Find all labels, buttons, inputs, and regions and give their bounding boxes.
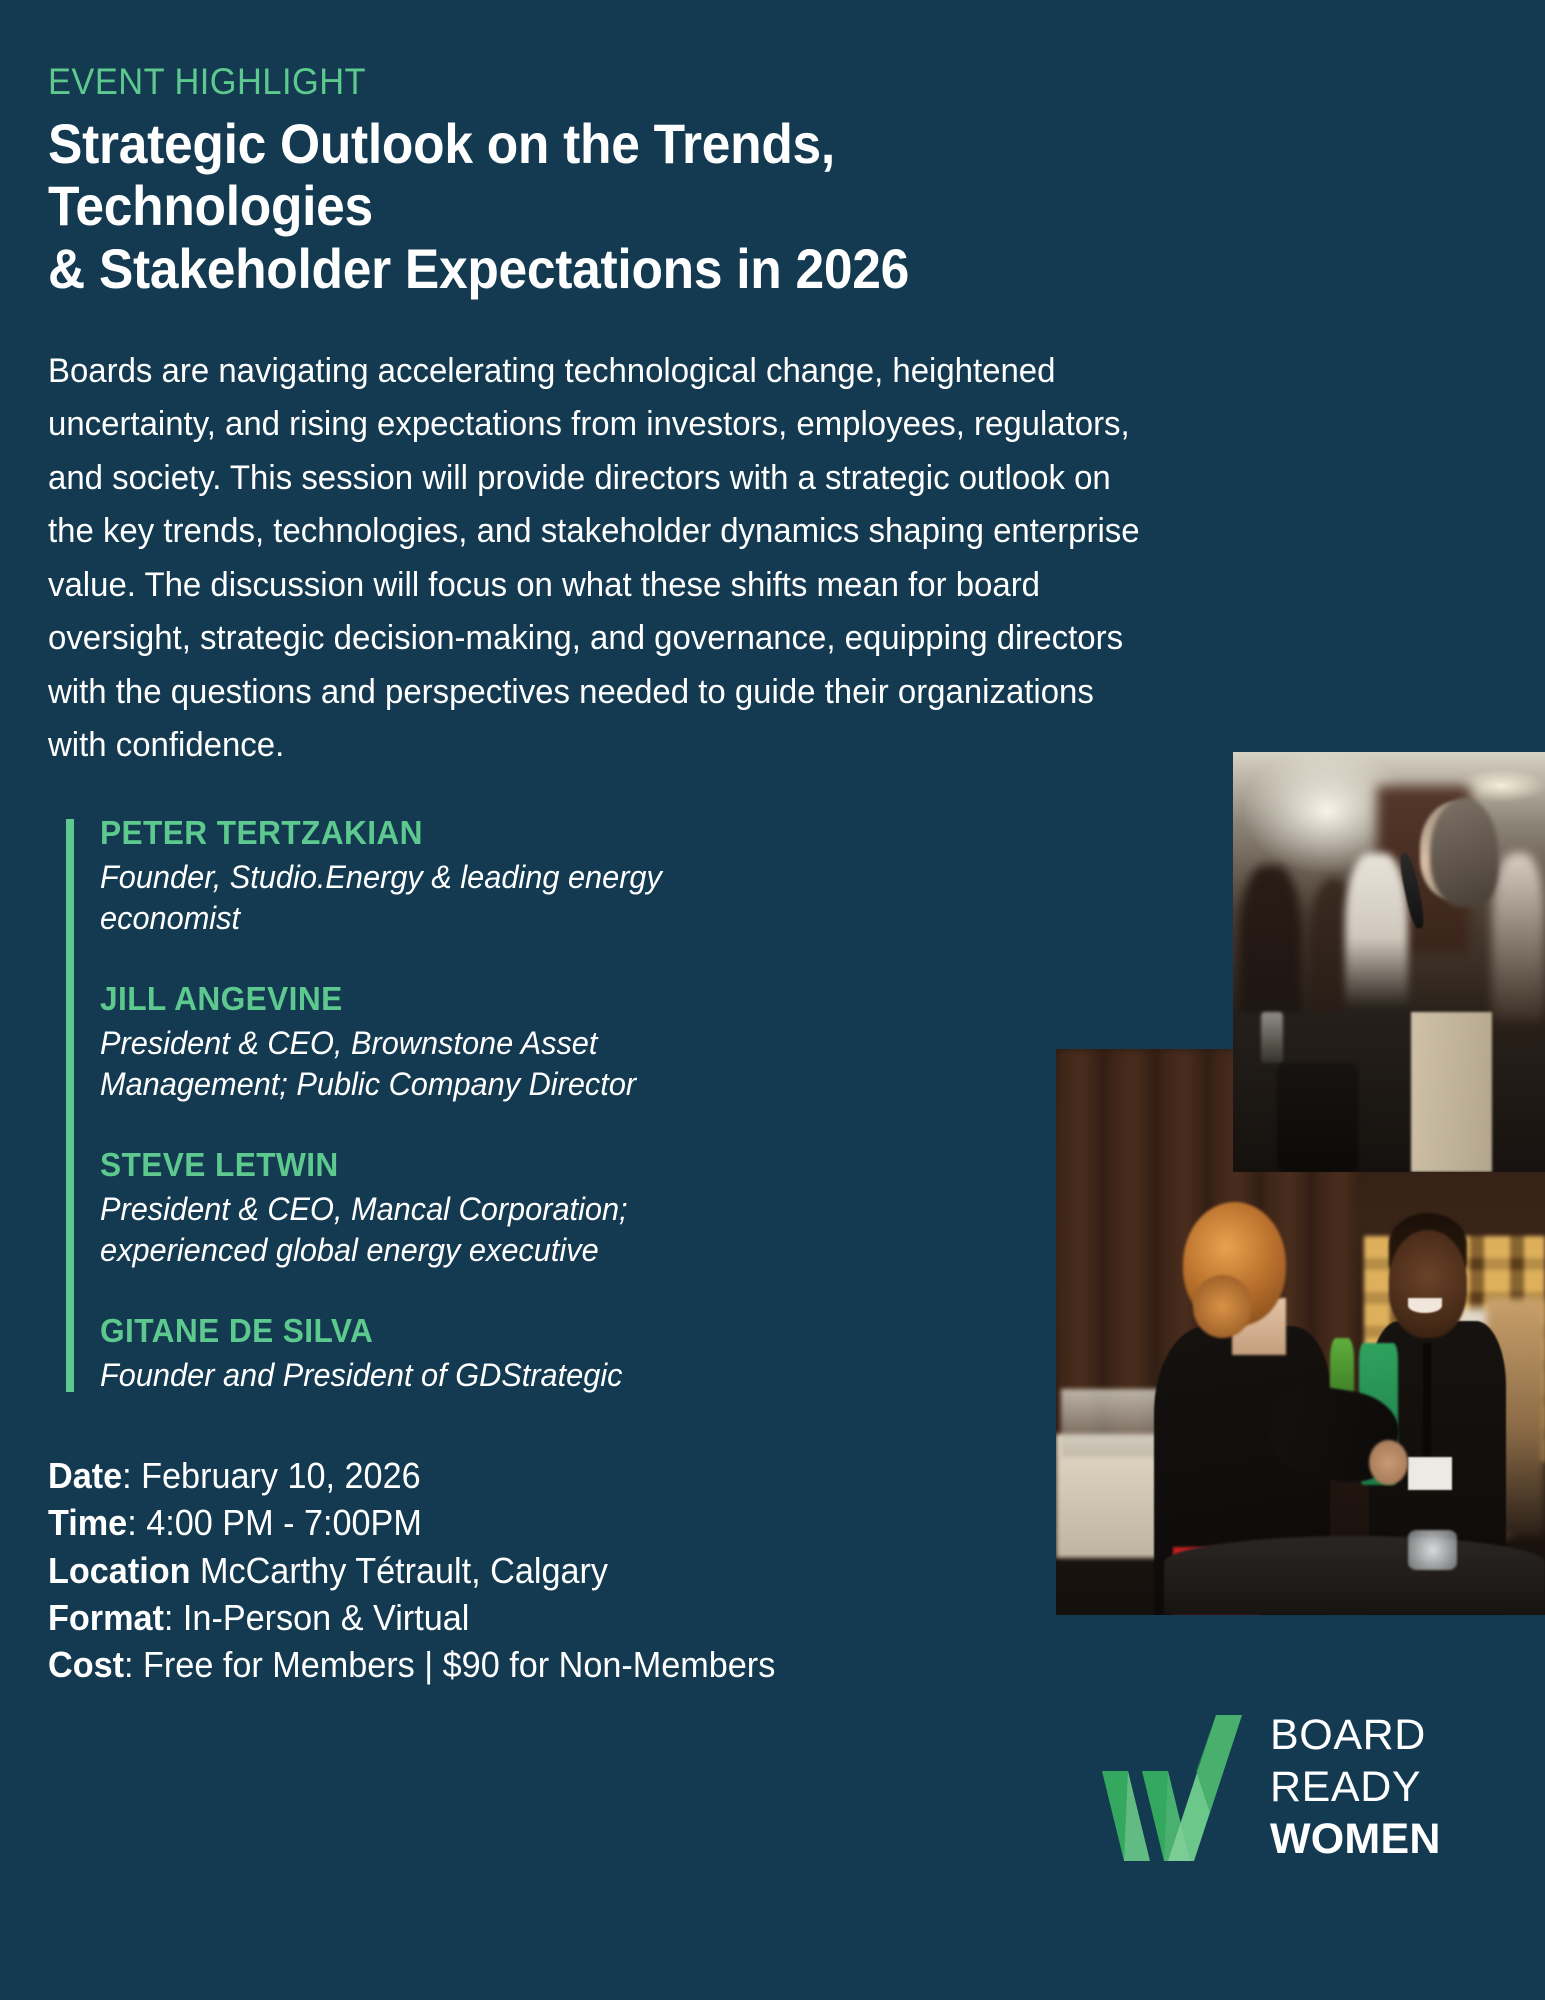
detail-separator <box>191 1550 201 1591</box>
detail-label: Location <box>48 1550 191 1591</box>
speaker-item: GITANE DE SILVA Founder and President of… <box>100 1311 800 1396</box>
page-title: Strategic Outlook on the Trends, Technol… <box>48 113 1088 301</box>
photo-smile-layer <box>1408 1298 1442 1313</box>
eyebrow-label: EVENT HIGHLIGHT <box>48 0 1369 103</box>
speaker-list: PETER TERTZAKIAN Founder, Studio.Energy … <box>48 813 800 1397</box>
brand-logo-line-2: READY <box>1270 1766 1441 1809</box>
detail-separator: : <box>127 1502 146 1543</box>
photo-glass-layer <box>1261 1012 1283 1062</box>
detail-row-date: Date: February 10, 2026 <box>48 1452 827 1499</box>
event-details: Date: February 10, 2026 Time: 4:00 PM - … <box>48 1452 868 1688</box>
photo-hair-bun-layer <box>1193 1275 1252 1337</box>
speaker-name: JILL ANGEVINE <box>100 979 772 1019</box>
detail-value: In-Person & Virtual <box>183 1597 469 1638</box>
detail-value: 4:00 PM - 7:00PM <box>146 1502 422 1543</box>
speaker-role: Founder and President of GDStrategic <box>100 1355 714 1396</box>
brand-logo-line-1: BOARD <box>1270 1714 1441 1757</box>
detail-separator: : <box>124 1644 143 1685</box>
photo-ice-bucket-layer <box>1408 1530 1457 1570</box>
photo-round-table-layer <box>1164 1536 1545 1615</box>
detail-label: Cost <box>48 1644 124 1685</box>
detail-row-location: Location McCarthy Tétrault, Calgary <box>48 1547 827 1594</box>
speaker-name: STEVE LETWIN <box>100 1145 772 1185</box>
detail-separator: : <box>164 1597 183 1638</box>
speaker-item: PETER TERTZAKIAN Founder, Studio.Energy … <box>100 813 800 939</box>
board-ready-women-w-mark-icon <box>1098 1713 1246 1863</box>
speaker-role: President & CEO, Mancal Corporation; exp… <box>100 1189 714 1271</box>
brand-logo: BOARD READY WOMEN <box>1098 1700 1488 1875</box>
speaker-name: GITANE DE SILVA <box>100 1311 772 1351</box>
speaker-accent-bar <box>66 819 74 1393</box>
photo-lanyard-layer <box>1423 1343 1431 1462</box>
brand-logo-line-3: WOMEN <box>1270 1818 1441 1861</box>
event-description: Boards are navigating accelerating techn… <box>48 345 1156 773</box>
page-title-line-2: & Stakeholder Expectations in 2026 <box>48 238 1088 301</box>
detail-value: February 10, 2026 <box>141 1455 420 1496</box>
photo-name-badge-layer <box>1408 1457 1452 1491</box>
detail-value: Free for Members | $90 for Non-Members <box>143 1644 775 1685</box>
page-title-line-1: Strategic Outlook on the Trends, Technol… <box>48 113 1088 238</box>
photo-glassware-layer <box>1061 1389 1169 1457</box>
detail-label: Format <box>48 1597 164 1638</box>
detail-separator: : <box>122 1455 141 1496</box>
speaker-item: JILL ANGEVINE President & CEO, Brownston… <box>100 979 800 1105</box>
photo-hand-layer <box>1369 1440 1408 1485</box>
speaker-item: STEVE LETWIN President & CEO, Mancal Cor… <box>100 1145 800 1271</box>
detail-row-format: Format: In-Person & Virtual <box>48 1594 827 1641</box>
photo-chair-layer <box>1277 1063 1358 1172</box>
detail-label: Time <box>48 1502 127 1543</box>
speaker-role: President & CEO, Brownstone Asset Manage… <box>100 1023 714 1105</box>
event-highlight-poster: EVENT HIGHLIGHT Strategic Outlook on the… <box>0 0 1545 2000</box>
speaker-name: PETER TERTZAKIAN <box>100 813 772 853</box>
photo-hair-layer <box>1430 798 1499 907</box>
photo-crowd-layer <box>1345 853 1407 1038</box>
detail-row-cost: Cost: Free for Members | $90 for Non-Mem… <box>48 1641 827 1688</box>
photo-speaker-skirt-layer <box>1411 1012 1492 1172</box>
detail-row-time: Time: 4:00 PM - 7:00PM <box>48 1499 827 1546</box>
brand-logo-text: BOARD READY WOMEN <box>1270 1714 1441 1861</box>
photo-speaker-with-microphone <box>1233 752 1545 1172</box>
detail-value: McCarthy Tétrault, Calgary <box>200 1550 608 1591</box>
photo-face-layer <box>1389 1230 1467 1338</box>
detail-label: Date <box>48 1455 122 1496</box>
speaker-role: Founder, Studio.Energy & leading energy … <box>100 857 714 939</box>
